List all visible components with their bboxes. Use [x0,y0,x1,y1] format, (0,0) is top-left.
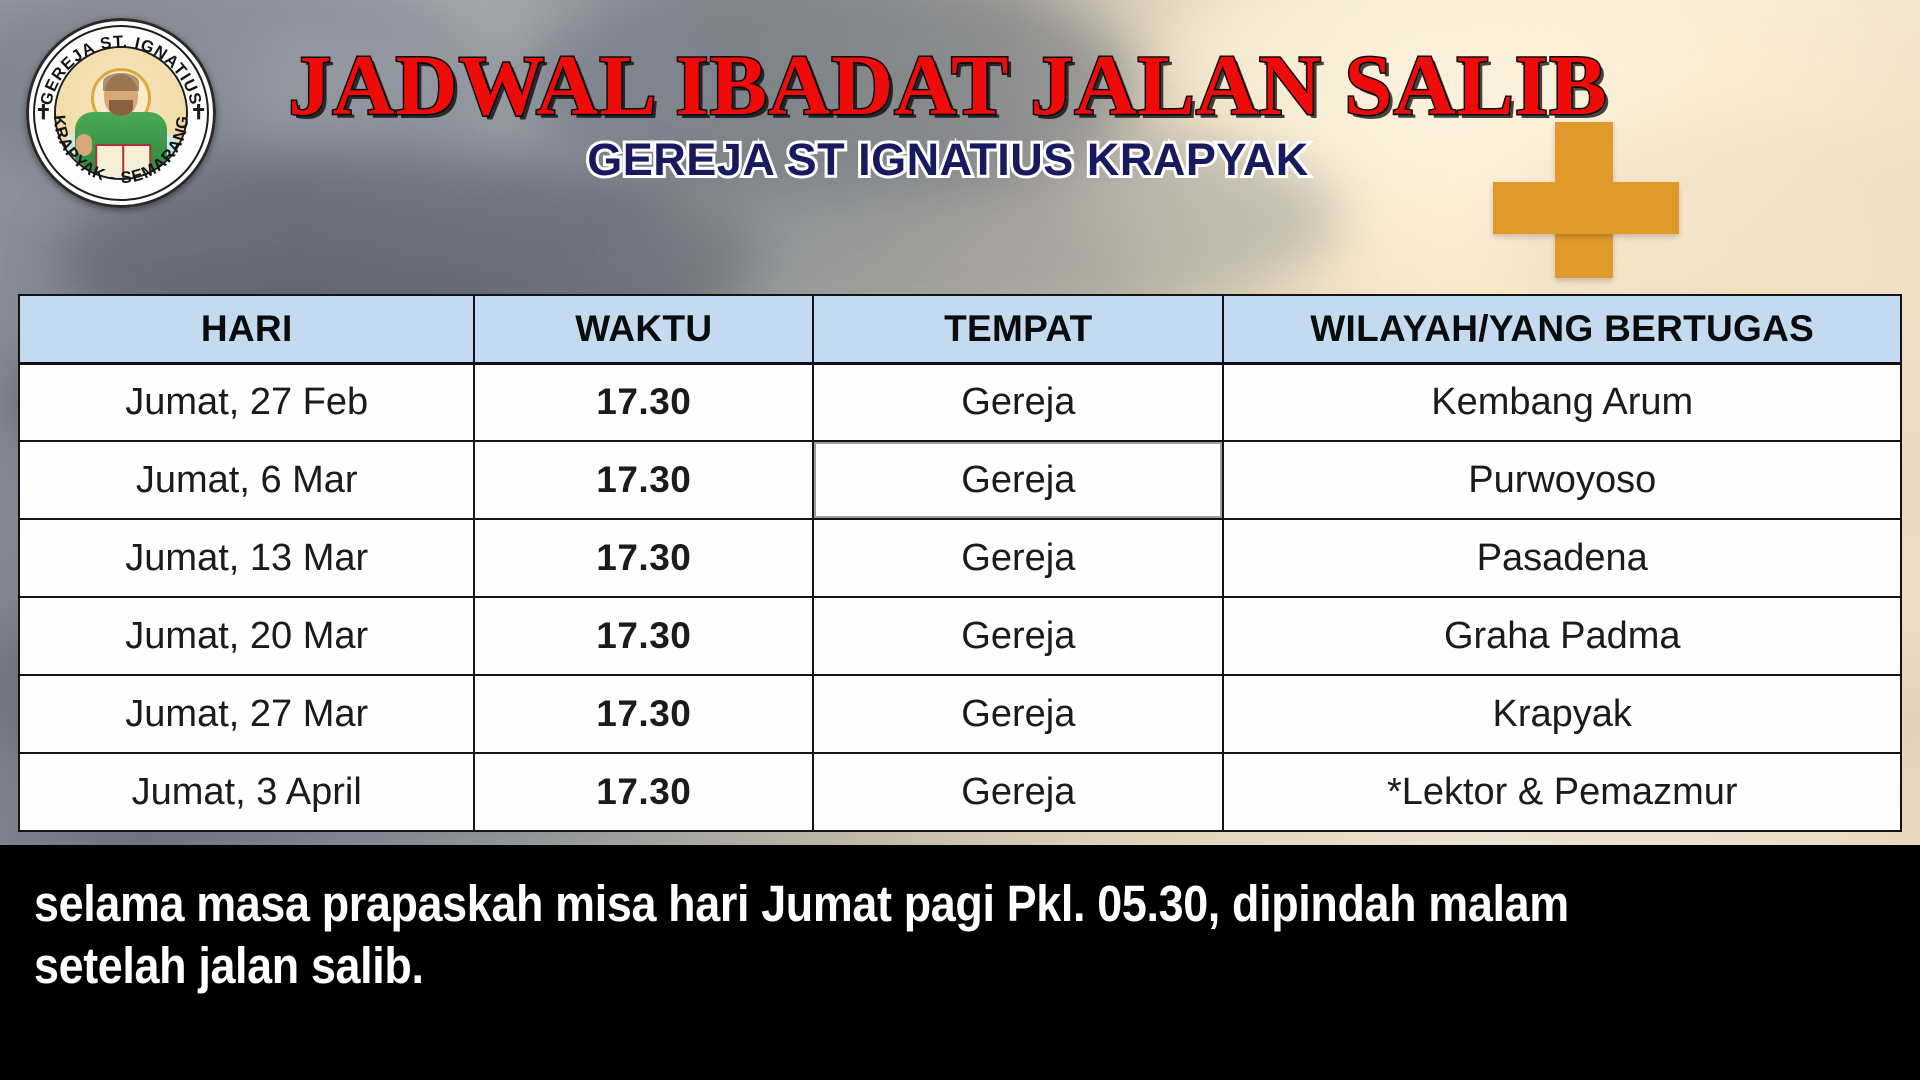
page-subtitle: GEREJA ST IGNATIUS KRAPYAK [218,136,1678,183]
page-title: JADWAL IBADAT JALAN SALIB [218,42,1678,128]
table-row: Jumat, 20 Mar 17.30 Gereja Graha Padma [19,597,1901,675]
caption-line-2: setelah jalan salib. [34,935,1664,997]
schedule-table: HARI WAKTU TEMPAT WILAYAH/YANG BERTUGAS … [18,294,1902,832]
caption-line-1: selama masa prapaskah misa hari Jumat pa… [34,873,1664,935]
cell-tempat-selected[interactable]: Gereja [813,441,1223,519]
cell-wilayah[interactable]: Graha Padma [1223,597,1901,675]
cell-hari[interactable]: Jumat, 20 Mar [19,597,474,675]
cell-tempat[interactable]: Gereja [813,753,1223,831]
cell-waktu[interactable]: 17.30 [474,441,813,519]
cell-waktu[interactable]: 17.30 [474,597,813,675]
cell-tempat[interactable]: Gereja [813,519,1223,597]
cell-wilayah[interactable]: Kembang Arum [1223,363,1901,441]
cell-wilayah[interactable]: Krapyak [1223,675,1901,753]
table-row: Jumat, 13 Mar 17.30 Gereja Pasadena [19,519,1901,597]
logo-arc-text: GEREJA ST. IGNATIUS KRAPYAK - SEMARANG [26,18,216,208]
cell-hari[interactable]: Jumat, 27 Mar [19,675,474,753]
cell-hari[interactable]: Jumat, 13 Mar [19,519,474,597]
cell-waktu[interactable]: 17.30 [474,675,813,753]
cell-tempat[interactable]: Gereja [813,363,1223,441]
cell-tempat[interactable]: Gereja [813,597,1223,675]
column-header-wilayah[interactable]: WILAYAH/YANG BERTUGAS [1223,295,1901,363]
table-header-row: HARI WAKTU TEMPAT WILAYAH/YANG BERTUGAS [19,295,1901,363]
cell-hari[interactable]: Jumat, 3 April [19,753,474,831]
cell-wilayah[interactable]: *Lektor & Pemazmur [1223,753,1901,831]
column-header-tempat[interactable]: TEMPAT [813,295,1223,363]
cell-wilayah[interactable]: Purwoyoso [1223,441,1901,519]
cross-horizontal-bar [1493,182,1679,234]
cell-hari[interactable]: Jumat, 6 Mar [19,441,474,519]
svg-text:KRAPYAK - SEMARANG: KRAPYAK - SEMARANG [50,114,193,187]
church-logo: ✝ ✝ GEREJA ST. IGNATIUS KRAPYAK - SEMARA… [26,18,216,208]
column-header-hari[interactable]: HARI [19,295,474,363]
cell-waktu[interactable]: 17.30 [474,363,813,441]
table-body: Jumat, 27 Feb 17.30 Gereja Kembang Arum … [19,363,1901,831]
table-row: Jumat, 27 Feb 17.30 Gereja Kembang Arum [19,363,1901,441]
cell-wilayah[interactable]: Pasadena [1223,519,1901,597]
table-row: Jumat, 3 April 17.30 Gereja *Lektor & Pe… [19,753,1901,831]
cell-hari[interactable]: Jumat, 27 Feb [19,363,474,441]
schedule-table-container: HARI WAKTU TEMPAT WILAYAH/YANG BERTUGAS … [18,294,1902,832]
caption-band: selama masa prapaskah misa hari Jumat pa… [0,845,1920,1080]
cell-waktu[interactable]: 17.30 [474,753,813,831]
table-row: Jumat, 6 Mar 17.30 Gereja Purwoyoso [19,441,1901,519]
table-row: Jumat, 27 Mar 17.30 Gereja Krapyak [19,675,1901,753]
poster-root: ✝ ✝ GEREJA ST. IGNATIUS KRAPYAK - SEMARA… [0,0,1920,1080]
column-header-waktu[interactable]: WAKTU [474,295,813,363]
title-block: JADWAL IBADAT JALAN SALIB GEREJA ST IGNA… [218,42,1678,183]
cell-waktu[interactable]: 17.30 [474,519,813,597]
cell-tempat[interactable]: Gereja [813,675,1223,753]
svg-text:GEREJA ST. IGNATIUS: GEREJA ST. IGNATIUS [37,33,205,107]
